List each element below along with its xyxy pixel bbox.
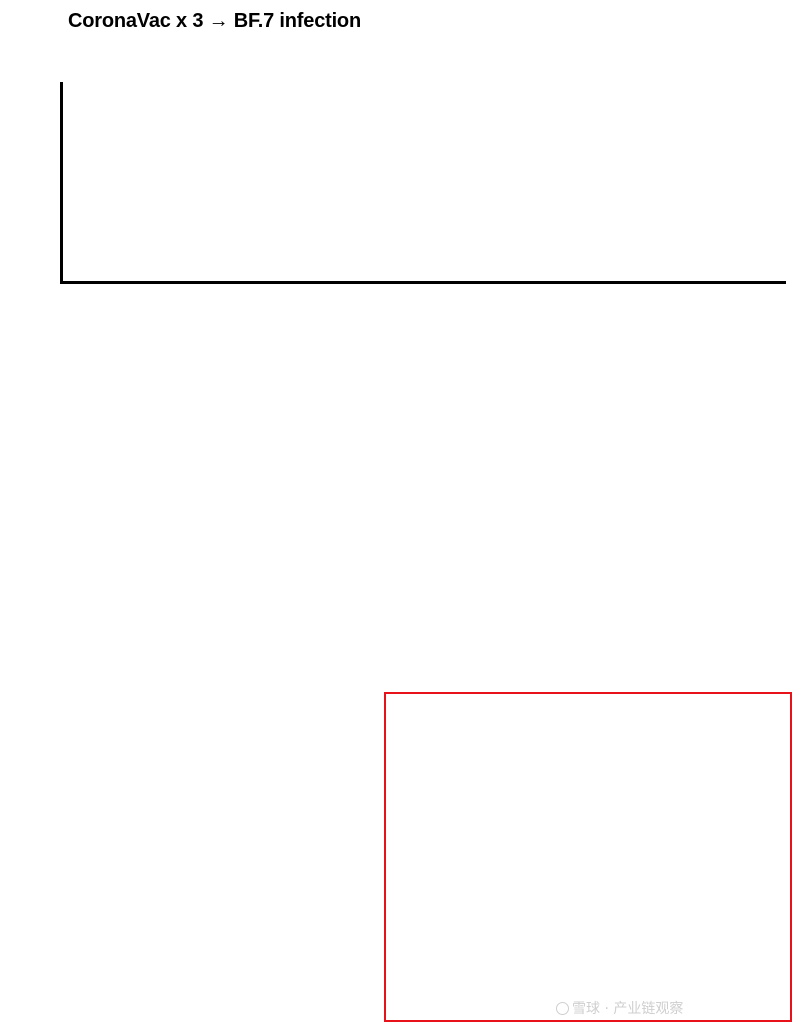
- watermark-text: 雪球 · 产业链观察: [572, 1001, 683, 1017]
- watermark: 雪球 · 产业链观察: [556, 998, 683, 1018]
- watermark-logo-icon: [556, 1002, 569, 1015]
- xbb15-panel-highlight-box: [384, 692, 792, 1022]
- plot-area: [60, 82, 786, 282]
- neutralization-panel: CoronaVac x 3 → BF.7 infection: [0, 0, 800, 380]
- panel-title: CoronaVac x 3 → BF.7 infection: [68, 10, 361, 33]
- figure-page: CoronaVac x 3 → BF.7 infection 雪球 · 产业链观…: [0, 0, 800, 1028]
